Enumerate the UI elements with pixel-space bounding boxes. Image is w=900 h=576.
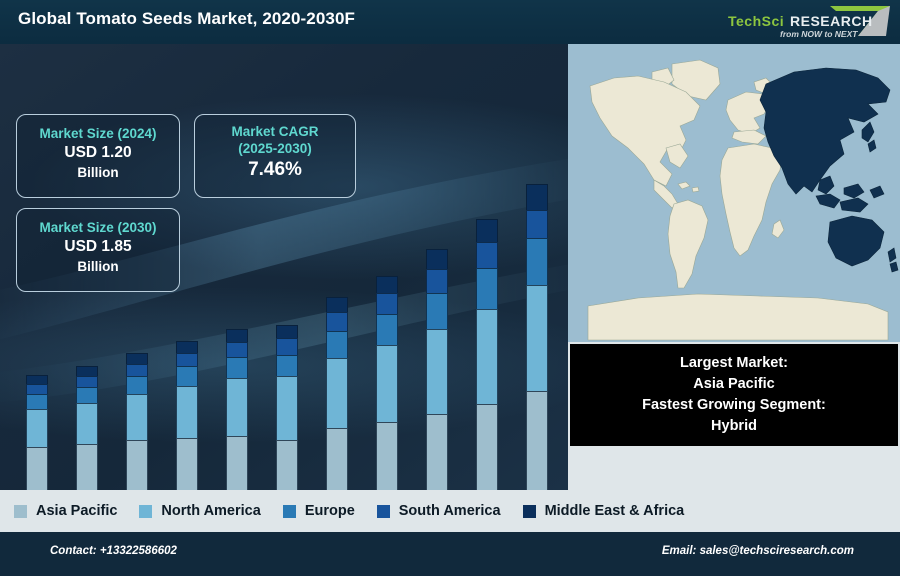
- svg-text:from NOW to NEXT: from NOW to NEXT: [780, 29, 858, 39]
- bar-2026F[interactable]: [326, 297, 348, 490]
- bar-segment-south-america: [426, 269, 448, 293]
- footer-bar: Contact: +13322586602 Email: sales@techs…: [0, 532, 900, 576]
- bar-segment-south-america: [376, 293, 398, 314]
- legend-label: Middle East & Africa: [545, 503, 685, 519]
- legend-swatch-icon: [377, 505, 390, 518]
- bar-segment-north-america: [376, 345, 398, 422]
- bar-segment-europe: [426, 293, 448, 329]
- bar-segment-asia-pacific: [226, 436, 248, 490]
- bar-segment-middle-east-africa: [26, 375, 48, 384]
- bar-segment-north-america: [226, 378, 248, 436]
- largest-market-value: Asia Pacific: [570, 374, 898, 395]
- bar-segment-south-america: [526, 210, 548, 238]
- bar-segment-south-america: [476, 242, 498, 268]
- bar-segment-asia-pacific: [326, 428, 348, 490]
- bar-segment-middle-east-africa: [476, 219, 498, 242]
- bar-2025E[interactable]: [276, 325, 298, 490]
- bar-segment-north-america: [476, 309, 498, 404]
- legend-swatch-icon: [283, 505, 296, 518]
- legend-label: Europe: [305, 503, 355, 519]
- legend-item-europe[interactable]: Europe: [283, 503, 355, 519]
- svg-text:TechSci: TechSci: [728, 13, 784, 29]
- legend-label: North America: [161, 503, 260, 519]
- svg-text:RESEARCH: RESEARCH: [790, 13, 873, 29]
- bar-segment-middle-east-africa: [126, 353, 148, 364]
- bar-segment-asia-pacific: [76, 444, 98, 490]
- stacked-bar-plot: [0, 44, 568, 490]
- bar-segment-north-america: [326, 358, 348, 428]
- bar-segment-middle-east-africa: [226, 329, 248, 342]
- legend-item-north-america[interactable]: North America: [139, 503, 260, 519]
- bar-2024[interactable]: [226, 329, 248, 490]
- largest-market-label: Largest Market:: [570, 353, 898, 374]
- bar-segment-south-america: [226, 342, 248, 357]
- contact-phone[interactable]: Contact: +13322586602: [50, 545, 177, 557]
- bar-2029F[interactable]: [476, 219, 498, 490]
- bar-segment-north-america: [526, 285, 548, 391]
- bar-segment-south-america: [176, 353, 198, 366]
- bar-segment-middle-east-africa: [526, 184, 548, 210]
- bar-2022[interactable]: [126, 353, 148, 490]
- bar-segment-europe: [526, 238, 548, 285]
- legend-item-middle-east-africa[interactable]: Middle East & Africa: [523, 503, 685, 519]
- bar-2030F[interactable]: [526, 184, 548, 490]
- bar-2020[interactable]: [26, 375, 48, 490]
- bar-segment-north-america: [126, 394, 148, 440]
- legend-label: Asia Pacific: [36, 503, 117, 519]
- bar-segment-north-america: [426, 329, 448, 414]
- bar-segment-middle-east-africa: [426, 249, 448, 269]
- legend-swatch-icon: [139, 505, 152, 518]
- bar-segment-europe: [276, 355, 298, 376]
- bar-segment-south-america: [126, 364, 148, 376]
- bar-2023[interactable]: [176, 341, 198, 490]
- bar-segment-asia-pacific: [176, 438, 198, 490]
- bar-2021[interactable]: [76, 366, 98, 490]
- bar-segment-asia-pacific: [26, 447, 48, 490]
- bar-segment-north-america: [176, 386, 198, 438]
- fastest-segment-label: Fastest Growing Segment:: [570, 395, 898, 416]
- bar-segment-middle-east-africa: [376, 276, 398, 293]
- bar-segment-europe: [376, 314, 398, 345]
- chart-legend: Asia PacificNorth AmericaEuropeSouth Ame…: [0, 490, 900, 532]
- techsci-research-logo: TechSci RESEARCH from NOW to NEXT: [718, 2, 894, 42]
- market-highlights-panel: Largest Market: Asia Pacific Fastest Gro…: [570, 344, 898, 446]
- bar-segment-south-america: [276, 338, 298, 355]
- bar-2028F[interactable]: [426, 249, 448, 490]
- bar-segment-south-america: [76, 376, 98, 387]
- bar-segment-asia-pacific: [426, 414, 448, 490]
- legend-item-south-america[interactable]: South America: [377, 503, 501, 519]
- legend-label: South America: [399, 503, 501, 519]
- bar-segment-asia-pacific: [376, 422, 398, 490]
- header-bar: Global Tomato Seeds Market, 2020-2030F T…: [0, 0, 900, 44]
- bar-segment-north-america: [76, 403, 98, 444]
- bar-segment-middle-east-africa: [76, 366, 98, 376]
- bar-segment-europe: [126, 376, 148, 394]
- bar-segment-south-america: [26, 384, 48, 394]
- bar-segment-europe: [476, 268, 498, 309]
- contact-email[interactable]: Email: sales@techsciresearch.com: [662, 545, 854, 557]
- bar-2027F[interactable]: [376, 276, 398, 490]
- bar-segment-middle-east-africa: [276, 325, 298, 338]
- infographic-page: Global Tomato Seeds Market, 2020-2030F T…: [0, 0, 900, 576]
- fastest-segment-value: Hybrid: [570, 416, 898, 437]
- legend-swatch-icon: [14, 505, 27, 518]
- bar-segment-europe: [76, 387, 98, 403]
- bar-segment-europe: [176, 366, 198, 386]
- chart-panel: Market Size (2024) USD 1.20 Billion Mark…: [0, 44, 568, 490]
- bar-segment-asia-pacific: [526, 391, 548, 490]
- page-title: Global Tomato Seeds Market, 2020-2030F: [18, 9, 355, 29]
- bar-segment-europe: [26, 394, 48, 409]
- bar-segment-north-america: [276, 376, 298, 440]
- bar-segment-south-america: [326, 312, 348, 331]
- bar-segment-north-america: [26, 409, 48, 447]
- legend-swatch-icon: [523, 505, 536, 518]
- bar-segment-asia-pacific: [476, 404, 498, 490]
- bar-segment-asia-pacific: [126, 440, 148, 490]
- bar-segment-europe: [226, 357, 248, 378]
- legend-item-asia-pacific[interactable]: Asia Pacific: [14, 503, 117, 519]
- world-map: [568, 44, 900, 342]
- bar-segment-europe: [326, 331, 348, 358]
- bar-segment-middle-east-africa: [326, 297, 348, 312]
- bar-segment-asia-pacific: [276, 440, 298, 490]
- bar-segment-middle-east-africa: [176, 341, 198, 353]
